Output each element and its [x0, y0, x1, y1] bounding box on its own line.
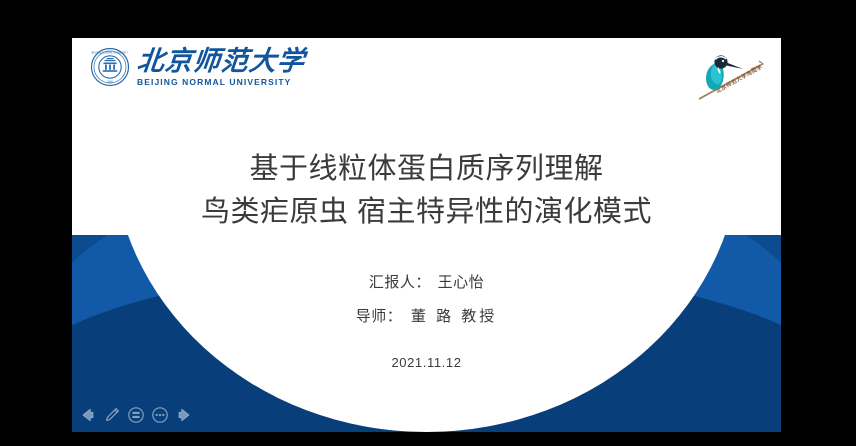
presenter-name: 王心怡 — [438, 266, 485, 300]
presentation-slide[interactable]: BEIJING NORMAL UNIVERSITY 1902 北京师范大学 BE… — [72, 38, 781, 432]
pen-icon — [103, 406, 121, 424]
more-options-button[interactable] — [150, 405, 170, 425]
slideshow-player: BEIJING NORMAL UNIVERSITY 1902 北京师范大学 BE… — [0, 0, 856, 446]
slide-body: 基于线粒体蛋白质序列理解 鸟类疟原虫 宿主特异性的演化模式 汇报人： 王心怡 导… — [72, 38, 781, 432]
advisor-label: 导师： — [356, 300, 403, 334]
right-arrow-icon — [175, 406, 193, 424]
pen-annotate-button[interactable] — [102, 405, 122, 425]
grid-icon — [127, 406, 145, 424]
slide-title-line2: 鸟类疟原虫 宿主特异性的演化模式 — [72, 191, 781, 234]
slide-date: 2021.11.12 — [72, 355, 781, 370]
advisor-row: 导师： 董 路 教授 — [72, 300, 781, 334]
presenter-row: 汇报人： 王心怡 — [72, 266, 781, 300]
presenter-label: 汇报人： — [369, 266, 431, 300]
advisor-name: 董 路 教授 — [411, 300, 497, 334]
slide-grid-button[interactable] — [126, 405, 146, 425]
slide-title: 基于线粒体蛋白质序列理解 鸟类疟原虫 宿主特异性的演化模式 — [72, 148, 781, 234]
slide-title-line1: 基于线粒体蛋白质序列理解 — [72, 148, 781, 191]
slideshow-toolbar — [78, 402, 194, 428]
next-slide-button[interactable] — [174, 405, 194, 425]
more-icon — [151, 406, 169, 424]
previous-slide-button[interactable] — [78, 405, 98, 425]
slide-credits: 汇报人： 王心怡 导师： 董 路 教授 — [72, 266, 781, 334]
left-arrow-icon — [79, 406, 97, 424]
